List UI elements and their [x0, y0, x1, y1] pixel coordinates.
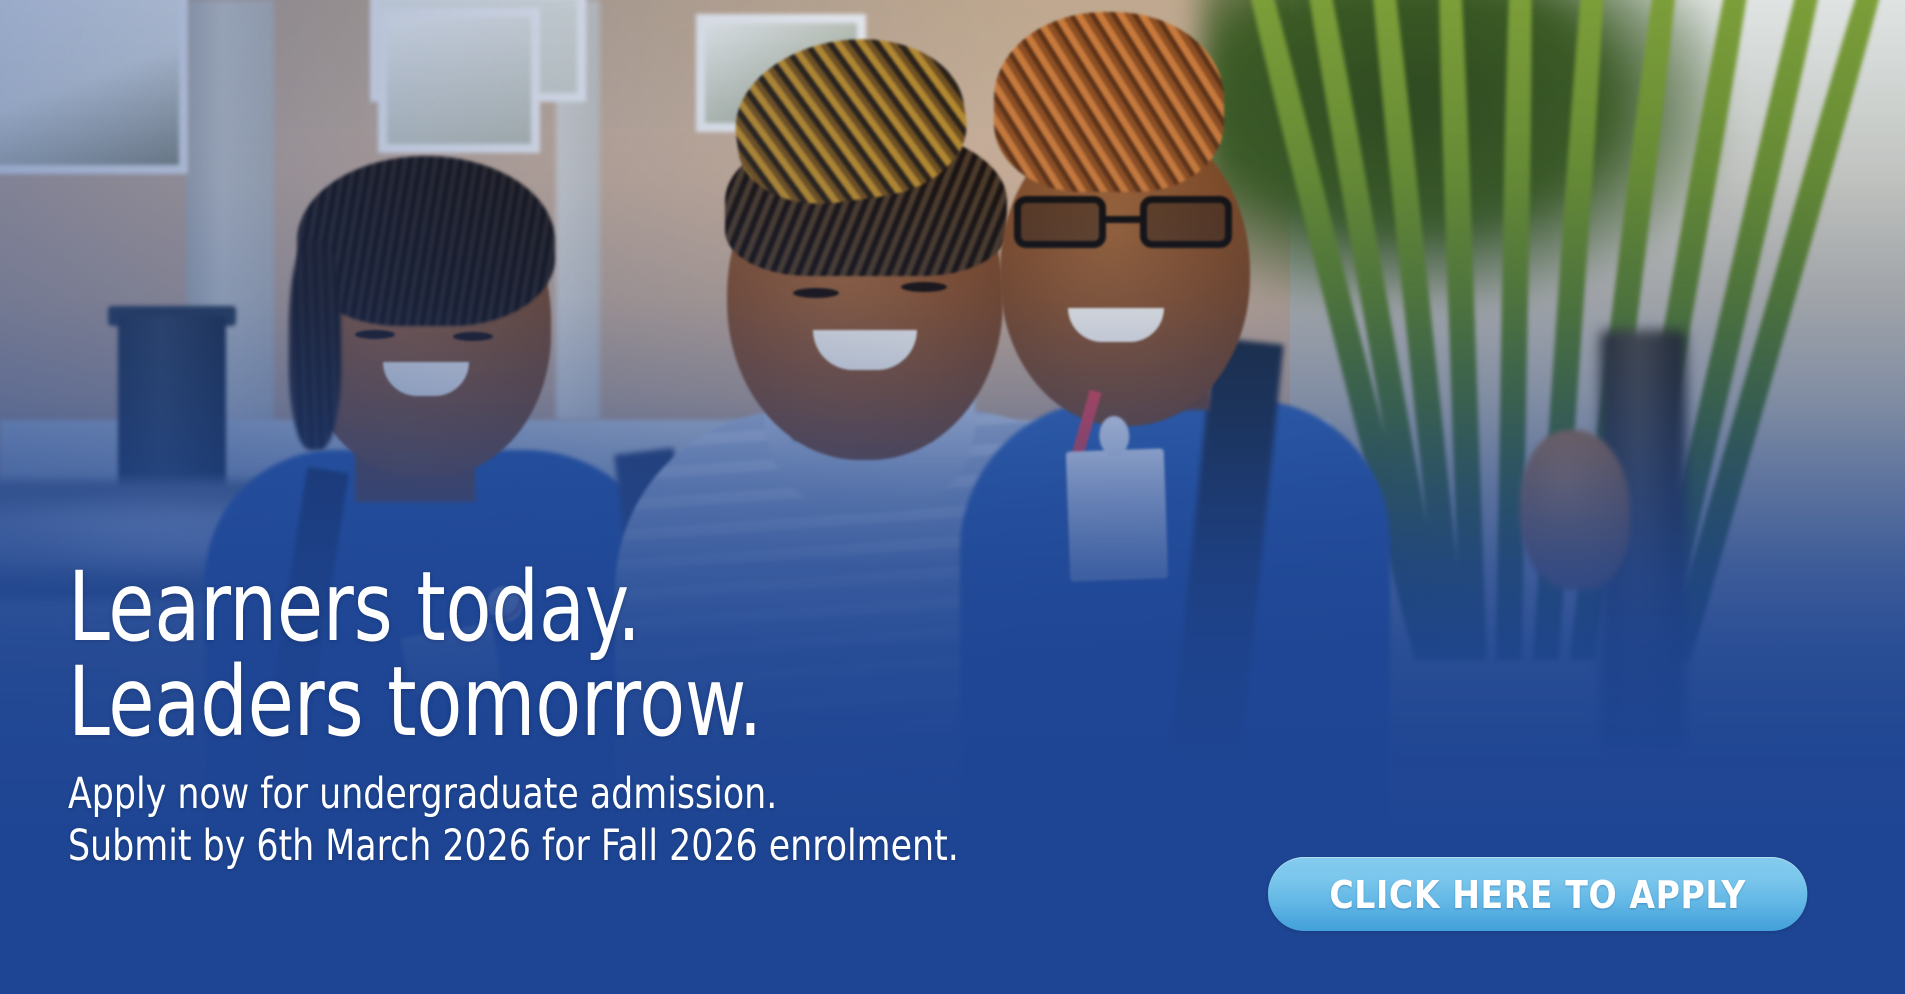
student-center-eye — [793, 288, 839, 298]
student-left-hair-side — [289, 240, 341, 450]
student-right-glasses — [1014, 196, 1232, 248]
cta-container: CLICK HERE TO APPLY — [1268, 857, 1824, 931]
building-window — [378, 8, 540, 153]
student-center-eye — [901, 282, 947, 292]
building-window — [0, 0, 188, 174]
admissions-hero-banner: Learners today. Leaders tomorrow. Apply … — [0, 0, 1905, 994]
headline-line-2: Leaders tomorrow. — [68, 655, 1617, 750]
student-left-eye — [355, 330, 395, 339]
hero-text-block: Learners today. Leaders tomorrow. Apply … — [68, 560, 1848, 872]
apply-now-button[interactable]: CLICK HERE TO APPLY — [1268, 857, 1807, 931]
subhead-line-1: Apply now for undergraduate admission. — [68, 768, 1670, 820]
headline-line-1: Learners today. — [68, 560, 1617, 655]
student-left-eye — [453, 332, 493, 341]
student-right-hair-bun — [994, 12, 1224, 192]
